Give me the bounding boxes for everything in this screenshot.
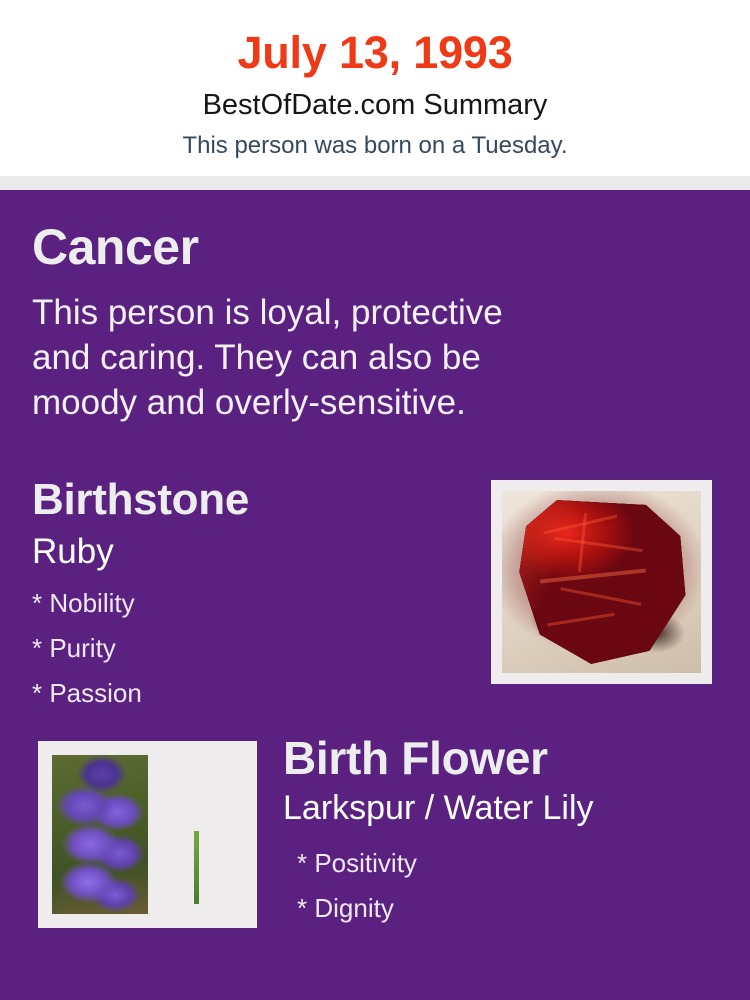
lily-stem	[194, 831, 199, 904]
larkspur-photo	[52, 755, 148, 914]
birthstone-block: Birthstone Ruby * Nobility * Purity * Pa…	[32, 478, 472, 716]
ruby-facet	[544, 515, 618, 535]
water-lily-photo	[148, 755, 244, 914]
list-item: * Passion	[32, 671, 472, 716]
birth-flower-image-frame	[38, 741, 257, 928]
birthstone-trait-list: * Nobility * Purity * Passion	[32, 569, 472, 716]
list-item: * Nobility	[32, 581, 472, 626]
birthstone-name: Ruby	[32, 522, 472, 569]
birth-flower-name: Larkspur / Water Lily	[283, 781, 723, 825]
birth-flower-photo	[52, 755, 243, 914]
birth-flower-block: Birth Flower Larkspur / Water Lily * Pos…	[283, 735, 723, 931]
header-divider	[0, 176, 750, 190]
zodiac-description-line: moody and overly-sensitive.	[32, 380, 652, 425]
ruby-facet	[540, 568, 646, 583]
ruby-crystal-shape	[516, 500, 687, 664]
birthstone-heading: Birthstone	[32, 478, 472, 522]
zodiac-description: This person is loyal, protective and car…	[32, 290, 652, 425]
zodiac-sign-title: Cancer	[32, 222, 199, 272]
birth-weekday-text: This person was born on a Tuesday.	[0, 120, 750, 158]
page-title: July 13, 1993	[0, 0, 750, 75]
ruby-facet	[547, 613, 615, 627]
list-item: * Positivity	[297, 841, 723, 886]
ruby-facet	[561, 587, 642, 606]
list-item: * Dignity	[297, 886, 723, 931]
birth-flower-trait-list: * Positivity * Dignity	[283, 825, 723, 931]
page-header: July 13, 1993 BestOfDate.com Summary Thi…	[0, 0, 750, 176]
details-panel: Cancer This person is loyal, protective …	[0, 190, 750, 1000]
list-item: * Purity	[32, 626, 472, 671]
summary-page: July 13, 1993 BestOfDate.com Summary Thi…	[0, 0, 750, 1000]
ruby-facet	[554, 536, 643, 551]
zodiac-description-line: This person is loyal, protective	[32, 290, 652, 335]
birthstone-image-frame	[491, 480, 712, 684]
birth-flower-heading: Birth Flower	[283, 735, 723, 781]
ruby-photo	[502, 491, 701, 673]
site-summary-label: BestOfDate.com Summary	[0, 75, 750, 120]
zodiac-description-line: and caring. They can also be	[32, 335, 652, 380]
